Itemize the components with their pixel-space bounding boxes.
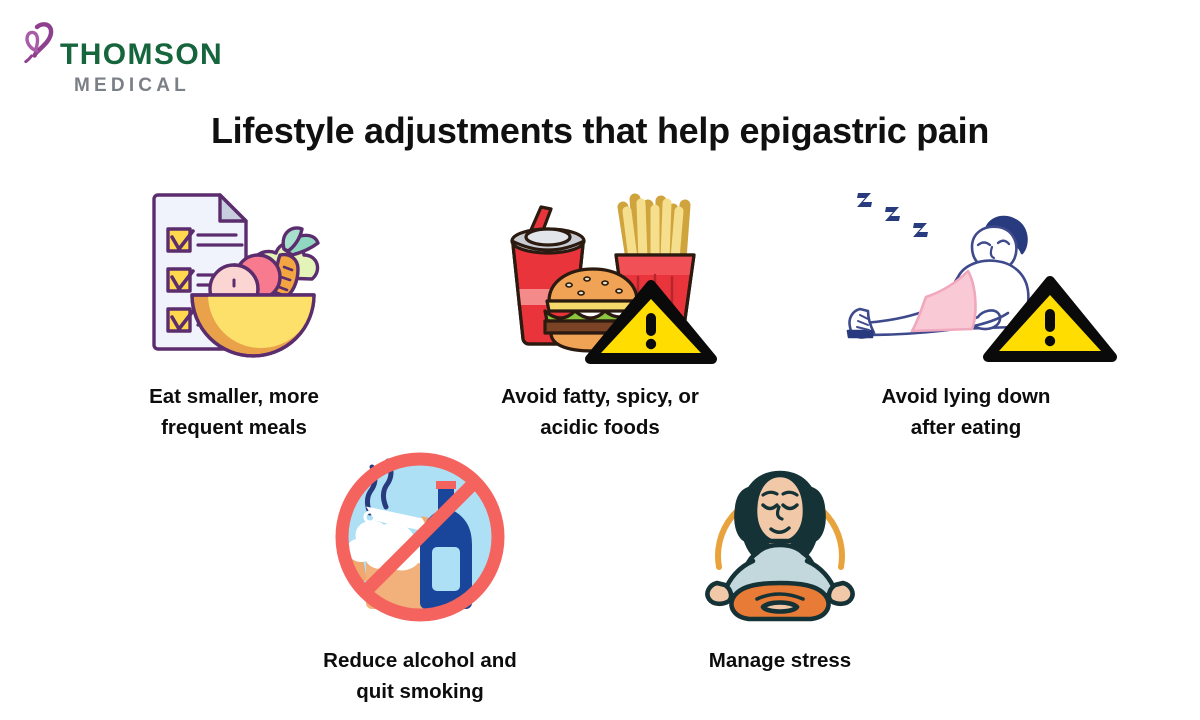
- tips-row-top: Eat smaller, more frequent meals: [0, 185, 1200, 443]
- tip-caption: Reduce alcohol and quit smoking: [323, 645, 517, 707]
- meditation-lotus-pose-icon: [648, 447, 912, 625]
- tip-card-eat-smaller-meals: Eat smaller, more frequent meals: [80, 185, 388, 443]
- person-lying-down-sleepy-icon: [812, 185, 1120, 363]
- tip-caption: Avoid lying down after eating: [882, 381, 1051, 443]
- tip-caption: Manage stress: [709, 645, 851, 676]
- brand-name-secondary: MEDICAL: [74, 76, 223, 95]
- checklist-healthy-food-bowl-icon: [80, 185, 388, 363]
- tip-card-avoid-trigger-foods: Avoid fatty, spicy, or acidic foods: [446, 185, 754, 443]
- tip-caption: Eat smaller, more frequent meals: [149, 381, 319, 443]
- tip-card-avoid-lying-down: Avoid lying down after eating: [812, 185, 1120, 443]
- tip-caption: Avoid fatty, spicy, or acidic foods: [501, 381, 699, 443]
- tip-card-reduce-alcohol-quit-smoking: Reduce alcohol and quit smoking: [288, 447, 552, 707]
- tips-row-bottom: Reduce alcohol and quit smoking: [0, 447, 1200, 707]
- brand-name-primary: THOMSON: [60, 40, 223, 70]
- brand-logo: THOMSON MEDICAL: [16, 18, 256, 96]
- butterfly-icon: [16, 20, 58, 64]
- page-title: Lifestyle adjustments that help epigastr…: [0, 110, 1200, 152]
- no-alcohol-no-smoking-icon: [288, 447, 552, 625]
- fast-food-burger-fries-soda-icon: [446, 185, 754, 363]
- sleep-zzz-icon: [857, 193, 928, 237]
- tip-card-manage-stress: Manage stress: [648, 447, 912, 707]
- brand-wordmark: THOMSON MEDICAL: [60, 40, 223, 95]
